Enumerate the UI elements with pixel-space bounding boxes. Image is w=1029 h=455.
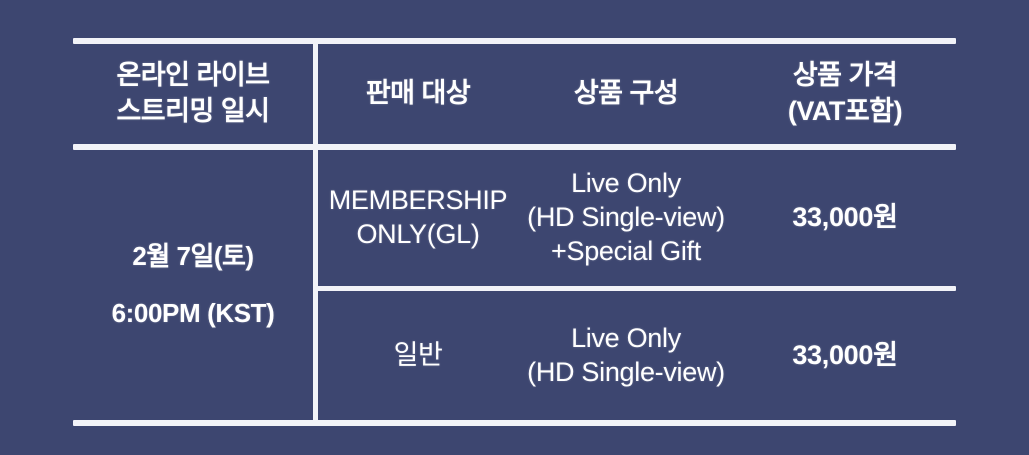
column-header-product: 상품 구성 — [518, 44, 734, 144]
schedule-time: 6:00PM (KST) — [112, 298, 275, 329]
column-header-schedule: 온라인 라이브 스트리밍 일시 — [73, 44, 313, 144]
column-header-schedule-line2: 스트리밍 일시 — [116, 94, 269, 130]
column-header-audience-label: 판매 대상 — [366, 76, 470, 112]
pricing-table: 온라인 라이브 스트리밍 일시 판매 대상 상품 구성 상품 가격 (VAT포함… — [73, 38, 956, 426]
table-row-1-product: Live Only (HD Single-view) +Special Gift — [518, 150, 734, 286]
column-header-price: 상품 가격 (VAT포함) — [734, 44, 956, 144]
row-1-product-line3: +Special Gift — [551, 235, 701, 269]
column-header-price-line1: 상품 가격 — [793, 58, 897, 94]
ticket-info-poster: 온라인 라이브 스트리밍 일시 판매 대상 상품 구성 상품 가격 (VAT포함… — [0, 0, 1029, 455]
schedule-cell: 2월 7일(토) 6:00PM (KST) — [73, 150, 313, 420]
row-2-audience-line1: 일반 — [394, 339, 443, 373]
table-row-2-product: Live Only (HD Single-view) — [518, 291, 734, 420]
row-2-price-value: 33,000원 — [792, 339, 897, 373]
table-bottom-border — [73, 420, 956, 426]
row-2-product-line1: Live Only — [571, 322, 681, 356]
column-header-product-label: 상품 구성 — [574, 76, 678, 112]
schedule-date: 2월 7일(토) — [132, 241, 253, 272]
table-row-2-price: 33,000원 — [734, 291, 956, 420]
column-header-price-line2: (VAT포함) — [788, 94, 902, 130]
row-1-audience-line1: MEMBERSHIP — [329, 184, 508, 218]
row-1-audience-line2: ONLY(GL) — [356, 218, 479, 252]
column-header-schedule-line1: 온라인 라이브 — [116, 58, 269, 94]
table-row-2-audience: 일반 — [318, 291, 518, 420]
table-row-1-price: 33,000원 — [734, 150, 956, 286]
column-header-audience: 판매 대상 — [318, 44, 518, 144]
table-row-1-audience: MEMBERSHIP ONLY(GL) — [318, 150, 518, 286]
row-1-product-line2: (HD Single-view) — [527, 201, 725, 235]
row-1-product-line1: Live Only — [571, 167, 681, 201]
row-1-price-value: 33,000원 — [792, 201, 897, 235]
row-2-product-line2: (HD Single-view) — [527, 356, 725, 390]
